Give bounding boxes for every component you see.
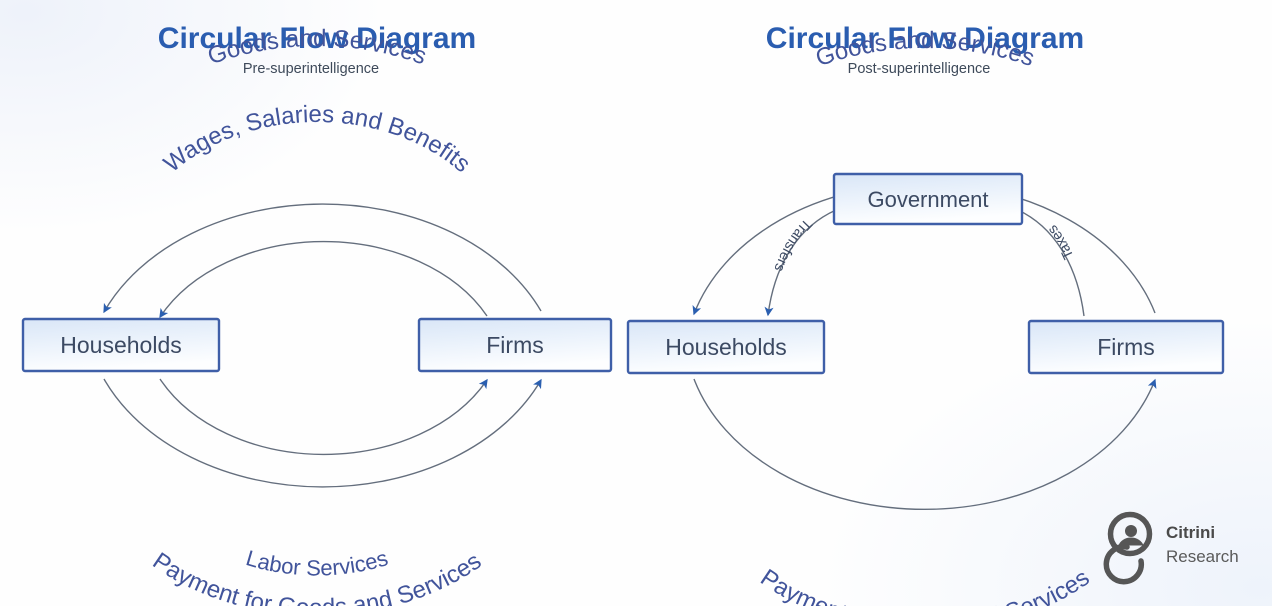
flow-label-wages-salaries-and-benefits: Wages, Salaries and Benefits bbox=[159, 101, 476, 178]
flow-arc-labor-services bbox=[160, 379, 487, 454]
flow-label-taxes: Taxes bbox=[1045, 222, 1078, 262]
node-government[interactable]: Government bbox=[834, 174, 1022, 224]
flow-arc-goods-and-services bbox=[104, 204, 541, 312]
node-firms-label: Firms bbox=[486, 332, 543, 358]
flow-arc-taxes bbox=[1018, 210, 1084, 316]
diagram-canvas: Circular Flow Diagram Pre-superintellige… bbox=[0, 0, 1272, 606]
node-firms[interactable]: Firms bbox=[1029, 321, 1223, 373]
diagram-post-superintelligence: Circular Flow Diagram Post-superintellig… bbox=[628, 22, 1223, 606]
node-households[interactable]: Households bbox=[628, 321, 824, 373]
node-government-label: Government bbox=[867, 187, 988, 212]
flow-arc-wages-salaries-and-benefits bbox=[160, 242, 487, 317]
node-firms[interactable]: Firms bbox=[419, 319, 611, 371]
node-firms-label: Firms bbox=[1097, 334, 1154, 360]
circular-flow-diagrams: Circular Flow Diagram Pre-superintellige… bbox=[0, 0, 1272, 606]
diagram-subtitle: Post-superintelligence bbox=[848, 61, 991, 77]
citrini-logo-mark bbox=[1106, 515, 1149, 582]
node-households[interactable]: Households bbox=[23, 319, 219, 371]
logo-line-2: Research bbox=[1166, 547, 1239, 566]
flow-label-transfers: Transfers bbox=[770, 215, 814, 273]
flow-label-labor-services: Labor Services bbox=[243, 545, 390, 580]
logo-line-1: Citrini bbox=[1166, 523, 1215, 542]
flow-arc-payment-for-goods-and-services bbox=[694, 379, 1155, 509]
node-households-label: Households bbox=[665, 334, 786, 360]
flow-label-payment-for-goods-and-services: Payment for Goods and Services bbox=[756, 564, 1095, 606]
node-households-label: Households bbox=[60, 332, 181, 358]
diagram-pre-superintelligence: Circular Flow Diagram Pre-superintellige… bbox=[23, 22, 611, 606]
citrini-research-logo: Citrini Research bbox=[1106, 515, 1238, 582]
diagram-subtitle: Pre-superintelligence bbox=[243, 61, 379, 77]
